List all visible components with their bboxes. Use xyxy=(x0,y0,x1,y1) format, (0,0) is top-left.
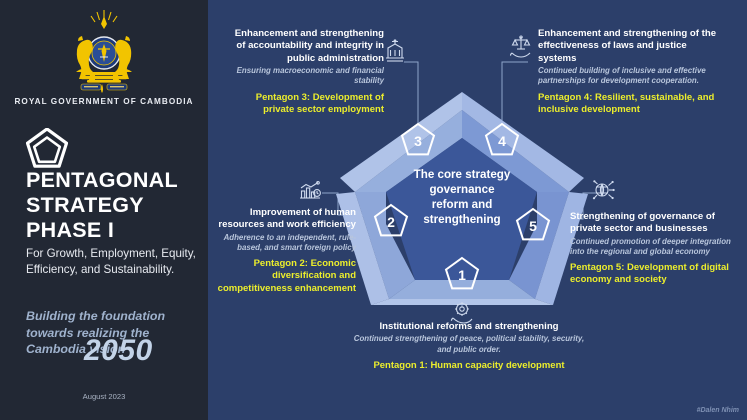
infographic-page: ROYAL GOVERNMENT OF CAMBODIA PENTAGONAL … xyxy=(0,0,747,420)
digital-network-gear-icon xyxy=(593,180,615,199)
callout-1-heading: Institutional reforms and strengthening xyxy=(349,321,589,333)
core-label-line-1: The core strategy xyxy=(414,168,511,181)
scales-of-justice-hand-icon xyxy=(511,36,531,57)
callout-5-pentagon-label: Pentagon 5: Development of digital econo… xyxy=(570,262,738,286)
callout-2-pentagon-label: Pentagon 2: Economic diversification and… xyxy=(216,258,356,295)
core-label-line-3: reform and xyxy=(432,198,493,211)
callout-1[interactable]: Institutional reforms and strengthening … xyxy=(349,321,589,372)
core-label-line-2: governance xyxy=(429,183,495,196)
callout-4-heading: Enhancement and strengthening of the eff… xyxy=(538,28,720,65)
callout-4-pentagon-label: Pentagon 4: Resilient, sustainable, and … xyxy=(538,92,720,116)
callout-3[interactable]: Enhancement and strengthening of account… xyxy=(224,28,384,116)
callout-4[interactable]: Enhancement and strengthening of the eff… xyxy=(538,28,720,116)
core-label-line-4: strengthening xyxy=(423,213,500,226)
badge-2-label: 2 xyxy=(387,214,395,230)
callout-2-subtext: Adherence to an independent, rule-based,… xyxy=(216,233,356,253)
badge-3-label: 3 xyxy=(414,133,422,149)
callout-1-subtext: Continued strengthening of peace, politi… xyxy=(349,334,589,354)
badge-4-label: 4 xyxy=(498,133,506,149)
callout-3-heading: Enhancement and strengthening of account… xyxy=(224,28,384,65)
callout-1-pentagon-label: Pentagon 1: Human capacity development xyxy=(349,360,589,372)
badge-1-label: 1 xyxy=(458,267,466,283)
callout-3-pentagon-label: Pentagon 3: Development of private secto… xyxy=(224,92,384,116)
callout-5[interactable]: Strengthening of governance of private s… xyxy=(570,211,738,287)
callout-3-subtext: Ensuring macroeconomic and financial sta… xyxy=(224,66,384,86)
callout-5-subtext: Continued promotion of deeper integratio… xyxy=(570,237,738,257)
badge-5-label: 5 xyxy=(529,218,537,234)
bar-chart-growth-icon xyxy=(300,182,320,199)
government-building-icon xyxy=(386,40,404,61)
callout-5-heading: Strengthening of governance of private s… xyxy=(570,211,738,236)
callout-4-subtext: Continued building of inclusive and effe… xyxy=(538,66,720,86)
callout-2-heading: Improvement of human resources and work … xyxy=(216,207,356,232)
callout-2[interactable]: Improvement of human resources and work … xyxy=(216,207,356,295)
